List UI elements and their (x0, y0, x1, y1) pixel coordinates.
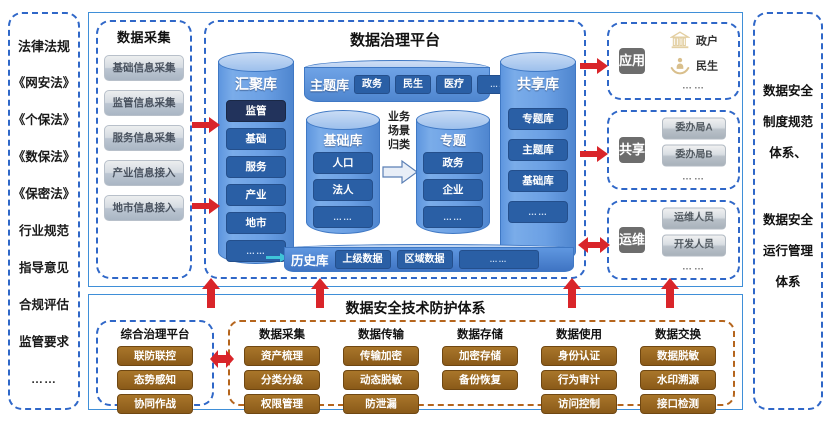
farright-g1-0: 数据安全 (763, 76, 813, 107)
collect-item-2[interactable]: 服务信息采集 (104, 125, 184, 151)
share-panel: 共享 委办局A 委办局B …… (607, 110, 740, 190)
arrow-security-up-3 (563, 278, 581, 308)
arrow-security-up-1 (202, 278, 220, 308)
huiju-cap (218, 52, 294, 72)
data-collection-list: 基础信息采集 监管信息采集 服务信息采集 产业信息接入 地市信息接入 (98, 55, 190, 221)
jichu-database-cylinder: 基础库 人口 法人 …… (306, 110, 380, 234)
sec-0-item-2[interactable]: 权限管理 (244, 394, 320, 414)
application-tag: 应用 (619, 48, 645, 74)
law-item-1: 《网安法》 (13, 65, 76, 102)
sec-0-item-1[interactable]: 分类分级 (244, 370, 320, 390)
operations-panel: 运维 运维人员 开发人员 …… (607, 200, 740, 280)
security-column-4-title: 数据交换 (630, 326, 726, 342)
arrow-platform-to-share (580, 146, 608, 162)
app-row-1[interactable]: 民生 (670, 56, 718, 76)
security-column-0: 数据采集 资产梳理 分类分级 权限管理 (234, 326, 330, 414)
app-row-1-label: 民生 (696, 58, 718, 74)
law-item-7: 合规评估 (19, 287, 69, 324)
ops-item-1[interactable]: 开发人员 (662, 235, 726, 257)
sec-0-item-0[interactable]: 资产梳理 (244, 346, 320, 366)
history-item-1[interactable]: 区域数据 (397, 250, 453, 269)
zhuanti-item-2: …… (423, 206, 483, 228)
security-column-3: 数据使用 身份认证 行为审计 访问控制 (531, 326, 627, 414)
arrow-collect-to-platform-2 (192, 198, 220, 214)
ops-item-0[interactable]: 运维人员 (662, 208, 726, 230)
data-governance-platform: 数据治理平台 汇聚库 监管 基础 服务 产业 地市 …… 主题库 政务 民生 医… (204, 20, 586, 279)
plat-item-2[interactable]: 协同作战 (117, 394, 193, 414)
huiju-database-cylinder: 汇聚库 监管 基础 服务 产业 地市 …… (218, 52, 294, 264)
security-column-0-title: 数据采集 (234, 326, 330, 342)
zhuti-item-1[interactable]: 民生 (395, 75, 431, 94)
jichu-label: 基础库 (306, 130, 380, 149)
app-dots: …… (682, 81, 706, 92)
operations-tag: 运维 (619, 227, 645, 253)
sec-2-item-0[interactable]: 加密存储 (442, 346, 518, 366)
gongxiang-item-1[interactable]: 主题库 (508, 139, 568, 161)
security-column-1: 数据传输 传输加密 动态脱敏 防泄漏 (333, 326, 429, 414)
zhuanti-items: 政务 企业 …… (416, 152, 490, 228)
huiju-item-3[interactable]: 产业 (226, 184, 286, 206)
history-label: 历史库 (291, 250, 329, 269)
collect-item-0[interactable]: 基础信息采集 (104, 55, 184, 81)
jichu-cap (306, 110, 380, 130)
history-database-bar: 历史库 上级数据 区域数据 …… (284, 244, 574, 270)
history-item-0[interactable]: 上级数据 (335, 250, 391, 269)
share-item-1[interactable]: 委办局B (662, 145, 726, 167)
jichu-items: 人口 法人 …… (306, 152, 380, 228)
jichu-item-1[interactable]: 法人 (313, 179, 373, 201)
security-column-1-title: 数据传输 (333, 326, 429, 342)
zhuanti-item-0[interactable]: 政务 (423, 152, 483, 174)
arrow-security-up-2 (311, 278, 329, 308)
sec-3-item-2[interactable]: 访问控制 (541, 394, 617, 414)
share-item-0[interactable]: 委办局A (662, 118, 726, 140)
gongxiang-item-3: …… (508, 201, 568, 223)
government-building-icon (670, 31, 690, 51)
data-security-system-column: 数据安全 制度规范 体系、 数据安全 运行管理 体系 (753, 12, 823, 410)
gongxiang-item-2[interactable]: 基础库 (508, 170, 568, 192)
data-collection-panel: 数据采集 基础信息采集 监管信息采集 服务信息采集 产业信息接入 地市信息接入 (96, 20, 192, 279)
sec-3-item-1[interactable]: 行为审计 (541, 370, 617, 390)
sec-1-item-2[interactable]: 防泄漏 (343, 394, 419, 414)
huiju-label: 汇聚库 (218, 74, 294, 94)
data-collection-title: 数据采集 (98, 27, 190, 46)
business-scenario-note: 业务 场景 归类 (382, 110, 416, 152)
share-tag: 共享 (619, 137, 645, 163)
huiju-item-4[interactable]: 地市 (226, 212, 286, 234)
history-item-2: …… (459, 250, 539, 269)
share-dots: …… (682, 172, 706, 183)
farright-g1-1: 制度规范 (763, 107, 813, 138)
farright-g2-2: 体系 (775, 267, 800, 298)
sec-4-item-2[interactable]: 接口检测 (640, 394, 716, 414)
app-row-0-label: 政户 (696, 33, 718, 49)
farright-g2-1: 运行管理 (763, 236, 813, 267)
mid-note-line-2: 归类 (382, 138, 416, 152)
arrow-security-up-4 (661, 278, 679, 308)
collect-item-4[interactable]: 地市信息接入 (104, 195, 184, 221)
gongxiang-cap (500, 52, 576, 72)
application-list: 政户 民生 …… (655, 31, 733, 92)
farright-g1-2: 体系、 (769, 138, 807, 169)
zhuanti-item-1[interactable]: 企业 (423, 179, 483, 201)
arrow-collect-to-platform-1 (192, 117, 220, 133)
huiju-item-2[interactable]: 服务 (226, 156, 286, 178)
share-list: 委办局A 委办局B …… (655, 118, 733, 183)
integrated-platform-title: 综合治理平台 (98, 326, 212, 342)
huiju-items: 监管 基础 服务 产业 地市 …… (218, 100, 294, 262)
sec-4-item-1[interactable]: 水印溯源 (640, 370, 716, 390)
gongxiang-database-cylinder: 共享库 专题库 主题库 基础库 …… (500, 52, 576, 264)
sec-1-item-1[interactable]: 动态脱敏 (343, 370, 419, 390)
arrow-platform-to-application (580, 58, 608, 74)
security-column-3-title: 数据使用 (531, 326, 627, 342)
collect-item-3[interactable]: 产业信息接入 (104, 160, 184, 186)
zhuti-database-bar: 主题库 政务 民生 医疗 …… (304, 60, 490, 100)
plat-item-1[interactable]: 态势感知 (117, 370, 193, 390)
ops-dots: …… (682, 262, 706, 273)
sec-1-item-0[interactable]: 传输加密 (343, 346, 419, 366)
zhuti-item-2[interactable]: 医疗 (436, 75, 472, 94)
law-item-9: …… (31, 361, 57, 398)
sec-4-item-0[interactable]: 数据脱敏 (640, 346, 716, 366)
law-item-4: 《保密法》 (13, 176, 76, 213)
farright-g2-0: 数据安全 (763, 205, 813, 236)
sec-3-item-0[interactable]: 身份认证 (541, 346, 617, 366)
zhuanti-database-cylinder: 专题 政务 企业 …… (416, 110, 490, 234)
gongxiang-item-0[interactable]: 专题库 (508, 108, 568, 130)
app-row-0[interactable]: 政户 (670, 31, 718, 51)
integrated-platform-items: 联防联控 态势感知 协同作战 (98, 346, 212, 414)
jichu-item-2: …… (313, 206, 373, 228)
law-list: 法律法规 《网安法》 《个保法》 《数保法》 《保密法》 行业规范 指导意见 合… (10, 14, 78, 422)
collect-item-1[interactable]: 监管信息采集 (104, 90, 184, 116)
security-system-title: 数据安全技术防护体系 (88, 298, 743, 318)
huiju-item-0[interactable]: 监管 (226, 100, 286, 122)
history-bar-body: 历史库 上级数据 区域数据 …… (284, 247, 574, 272)
zhuti-item-0[interactable]: 政务 (354, 75, 390, 94)
zhuti-bar-body: 主题库 政务 民生 医疗 …… (304, 67, 490, 102)
gongxiang-label: 共享库 (500, 74, 576, 94)
jichu-item-0[interactable]: 人口 (313, 152, 373, 174)
huiju-item-1[interactable]: 基础 (226, 128, 286, 150)
zhuanti-label: 专题 (416, 130, 490, 149)
arrow-platform-security-bidirectional (210, 348, 234, 370)
security-column-4: 数据交换 数据脱敏 水印溯源 接口检测 (630, 326, 726, 414)
flow-arrow-icon (382, 159, 418, 185)
platform-title: 数据治理平台 (206, 29, 584, 50)
sec-2-item-1[interactable]: 备份恢复 (442, 370, 518, 390)
law-item-3: 《数保法》 (13, 139, 76, 176)
security-column-2: 数据存储 加密存储 备份恢复 (432, 326, 528, 390)
security-column-2-title: 数据存储 (432, 326, 528, 342)
operations-list: 运维人员 开发人员 …… (655, 208, 733, 273)
law-item-6: 指导意见 (19, 250, 69, 287)
arrow-platform-ops-bidirectional (578, 237, 610, 253)
integrated-governance-platform: 综合治理平台 联防联控 态势感知 协同作战 (96, 320, 214, 406)
security-technical-protection-box: 数据采集 资产梳理 分类分级 权限管理 数据传输 传输加密 动态脱敏 防泄漏 数… (228, 320, 735, 406)
people-hands-icon (670, 56, 690, 76)
application-panel: 应用 政户 (607, 22, 740, 100)
law-item-8: 监管要求 (19, 324, 69, 361)
law-item-0: 法律法规 (18, 28, 70, 65)
plat-item-0[interactable]: 联防联控 (117, 346, 193, 366)
zhuti-label: 主题库 (310, 75, 349, 94)
law-item-2: 《个保法》 (13, 102, 76, 139)
mid-note-line-0: 业务 (382, 110, 416, 124)
gongxiang-items: 专题库 主题库 基础库 …… (500, 108, 576, 223)
zhuanti-cap (416, 110, 490, 130)
law-item-5: 行业规范 (19, 213, 69, 250)
mid-note-line-1: 场景 (382, 124, 416, 138)
law-regulations-panel: 法律法规 《网安法》 《个保法》 《数保法》 《保密法》 行业规范 指导意见 合… (8, 12, 80, 410)
diagram-canvas: 法律法规 《网安法》 《个保法》 《数保法》 《保密法》 行业规范 指导意见 合… (0, 0, 830, 423)
